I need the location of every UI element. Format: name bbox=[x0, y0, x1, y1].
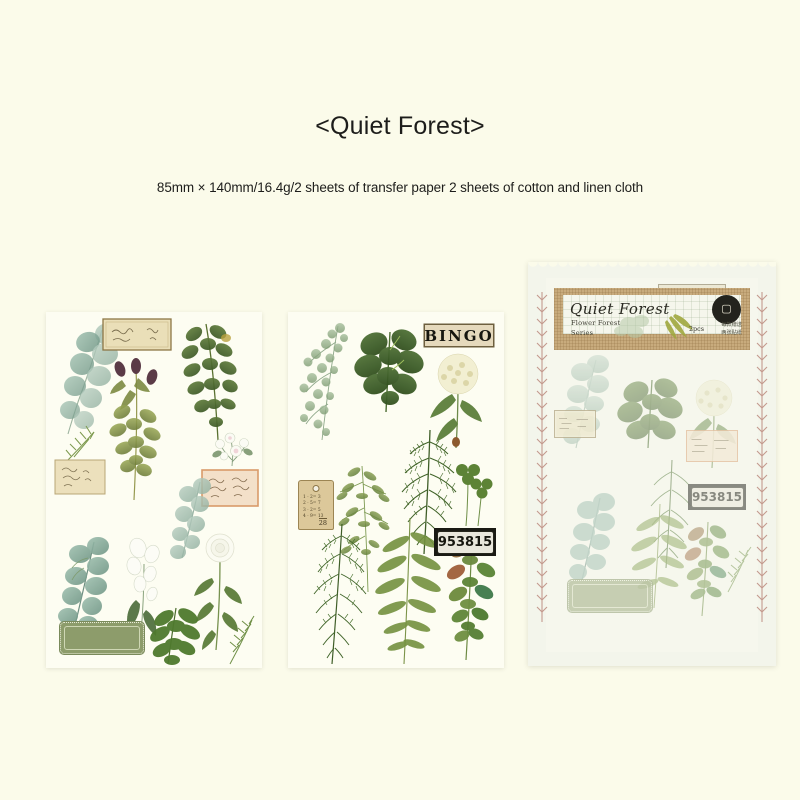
brand-script-title: Quiet Forest bbox=[570, 300, 670, 318]
number-plate-value: 953815 bbox=[691, 487, 744, 508]
package-header-card[interactable]: Quiet Forest Flower Forest Series ▢ 2pcs… bbox=[554, 288, 750, 350]
round-seal-icon: ▢ bbox=[712, 295, 741, 324]
seal-glyph: ▢ bbox=[721, 304, 731, 315]
peach-script-label bbox=[686, 430, 738, 462]
tag-total: 28 bbox=[319, 518, 327, 528]
package-note-cjk: 每款赠送 两张贴纸 bbox=[721, 322, 742, 338]
fern-vine-border-left bbox=[534, 292, 550, 622]
series-name: Flower Forest Series bbox=[571, 319, 620, 338]
product-package-bag[interactable]: BINGO 953815 bbox=[528, 262, 776, 666]
number-plate-label: 953815 bbox=[688, 484, 746, 510]
quantity-label: 2pcs bbox=[689, 325, 704, 333]
label-script-lines bbox=[690, 434, 734, 458]
sticker-sheet-1[interactable] bbox=[46, 312, 262, 668]
number-plate-value: 953815 bbox=[437, 531, 494, 554]
green-name-plaque bbox=[568, 580, 652, 612]
product-showcase-page: <Quiet Forest> 85mm × 140mm/16.4g/2 shee… bbox=[0, 0, 800, 800]
fern-vine-border-right bbox=[754, 292, 770, 622]
page-title: <Quiet Forest> bbox=[0, 112, 800, 141]
tag-hole-icon bbox=[313, 485, 320, 492]
plaque-inner-border bbox=[64, 626, 140, 650]
handwriting-note-label bbox=[554, 410, 596, 438]
label-script-lines bbox=[558, 414, 592, 434]
product-spec-subtitle: 85mm × 140mm/16.4g/2 sheets of transfer … bbox=[0, 180, 800, 195]
sticker-sheet-2[interactable]: BINGO 1 · 2= 3 2 · 5= 7 3 · 2= 5 4 · 9= … bbox=[288, 312, 504, 668]
bag-scalloped-edge bbox=[528, 262, 776, 273]
number-plate-label[interactable]: 953815 bbox=[434, 528, 496, 556]
plaque-inner-border bbox=[572, 584, 648, 608]
sheet1-botanical-art bbox=[46, 312, 262, 668]
arithmetic-hang-tag[interactable]: 1 · 2= 3 2 · 5= 7 3 · 2= 5 4 · 9= 13 28 bbox=[298, 480, 334, 530]
bingo-label[interactable]: BINGO bbox=[424, 324, 494, 347]
green-name-plaque[interactable] bbox=[60, 622, 144, 654]
